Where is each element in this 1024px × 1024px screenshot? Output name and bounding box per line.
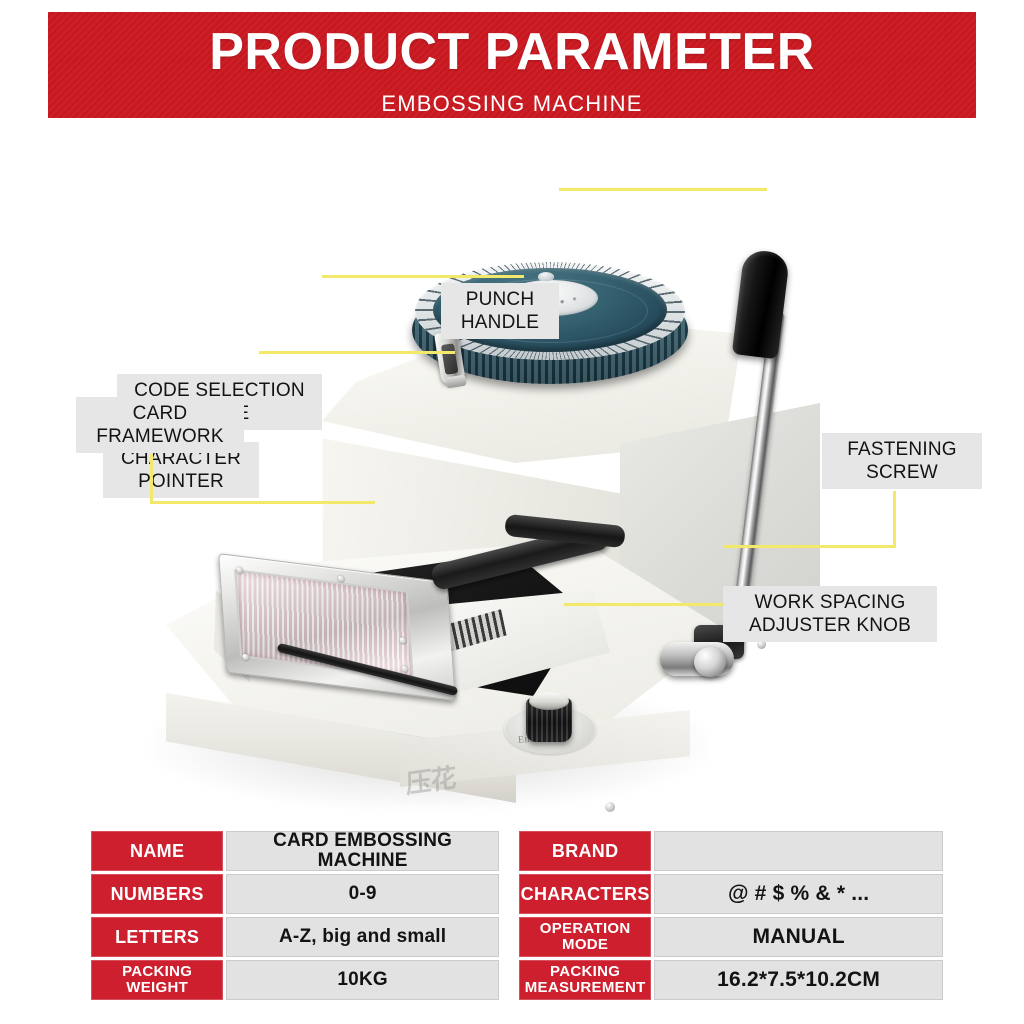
page-subtitle: EMBOSSING MACHINE: [48, 78, 976, 117]
table-row: LETTERS A-Z, big and small OPERATION MOD…: [91, 917, 943, 957]
spec-label-letters: LETTERS: [91, 917, 223, 957]
spec-value-letters: A-Z, big and small: [226, 917, 499, 957]
callout-fastening-screw: FASTENING SCREW: [822, 433, 982, 489]
spec-value-packing-measurement: 16.2*7.5*10.2CM: [654, 960, 943, 1000]
spec-value-numbers: 0-9: [226, 874, 499, 914]
table-row: PACKING WEIGHT 10KG PACKING MEASUREMENT …: [91, 960, 943, 1000]
callout-work-spacing-adjuster-knob: WORK SPACING ADJUSTER KNOB: [723, 586, 937, 642]
leader-card-framework-h: [150, 501, 375, 504]
callout-punch-handle: PUNCH HANDLE: [441, 283, 559, 339]
dial-center-nub: [538, 272, 554, 281]
column-spacer: [502, 874, 516, 914]
character-pointer-foot: [445, 375, 466, 389]
leader-fastening-screw-h: [724, 545, 896, 548]
body-brand-print: 压花: [406, 762, 497, 821]
body-screw: [605, 802, 615, 812]
fastening-screw[interactable]: [694, 647, 726, 677]
framework-screw: [399, 637, 406, 645]
leader-code-selection-plate: [322, 275, 524, 278]
column-spacer: [502, 960, 516, 1000]
framework-screw: [337, 575, 344, 583]
leader-punch-handle: [559, 188, 767, 191]
page-title: PRODUCT PARAMETER: [48, 12, 976, 78]
spec-label-brand: BRAND: [519, 831, 651, 871]
spec-label-characters: CHARACTERS: [519, 874, 651, 914]
spec-value-characters: @ # $ % & * ...: [654, 874, 943, 914]
spec-value-operation-mode: MANUAL: [654, 917, 943, 957]
product-photo: Embossed 压花 PUNCH HANDLE CODE SELECTION …: [0, 120, 1024, 810]
header-banner: PRODUCT PARAMETER EMBOSSING MACHINE: [48, 12, 976, 118]
leader-card-framework-v: [150, 454, 153, 504]
spec-value-name: CARD EMBOSSING MACHINE: [226, 831, 499, 871]
leader-character-pointer: [259, 351, 455, 354]
spec-value-packing-weight: 10KG: [226, 960, 499, 1000]
spec-label-numbers: NUMBERS: [91, 874, 223, 914]
column-spacer: [502, 831, 516, 871]
callout-card-framework: CARD FRAMEWORK: [76, 397, 244, 453]
table-row: NUMBERS 0-9 CHARACTERS @ # $ % & * ...: [91, 874, 943, 914]
adjuster-knob-indicator: [529, 692, 569, 710]
leader-work-spacing-adjuster-knob: [564, 603, 724, 606]
table-row: NAME CARD EMBOSSING MACHINE BRAND: [91, 831, 943, 871]
spec-value-brand: [654, 831, 943, 871]
spec-label-packing-measurement: PACKING MEASUREMENT: [519, 960, 651, 1000]
specification-table: NAME CARD EMBOSSING MACHINE BRAND NUMBER…: [88, 828, 946, 1003]
spec-label-packing-weight: PACKING WEIGHT: [91, 960, 223, 1000]
spec-label-operation-mode: OPERATION MODE: [519, 917, 651, 957]
leader-fastening-screw-v: [893, 491, 896, 547]
column-spacer: [502, 917, 516, 957]
framework-screw: [242, 653, 249, 661]
framework-screw: [401, 665, 408, 673]
punch-handle-grip[interactable]: [732, 249, 791, 360]
spec-label-name: NAME: [91, 831, 223, 871]
framework-screw: [236, 566, 243, 574]
product-parameter-infographic: PRODUCT PARAMETER EMBOSSING MACHINE: [0, 0, 1024, 1024]
